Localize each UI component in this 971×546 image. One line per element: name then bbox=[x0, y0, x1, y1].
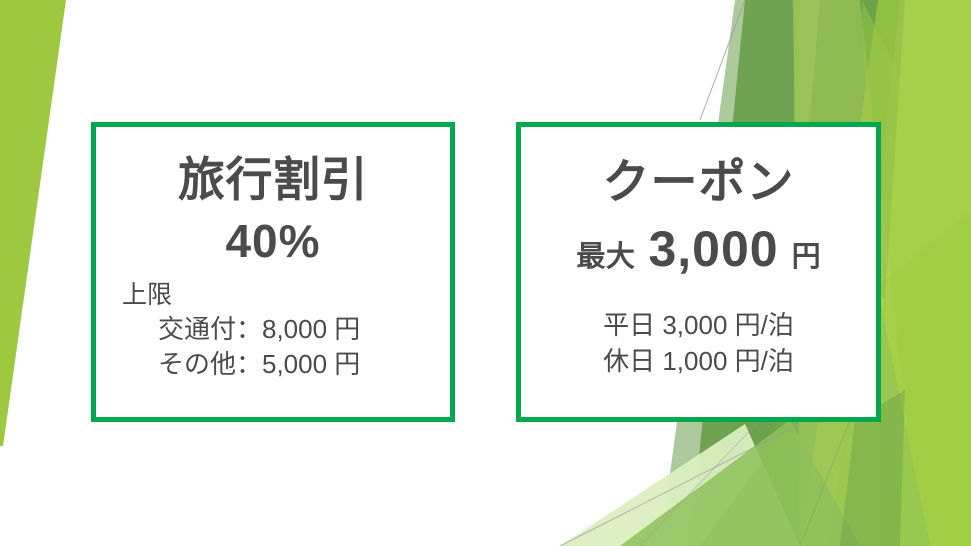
hairline-3 bbox=[640, 420, 760, 546]
facet-pale-tint-2 bbox=[620, 420, 860, 546]
hairline-2 bbox=[560, 424, 800, 546]
travel-discount-limit-block: 上限 交通付：8,000 円 その他：5,000 円 bbox=[96, 280, 450, 381]
coupon-title: クーポン bbox=[603, 157, 795, 206]
travel-discount-title: 旅行割引 bbox=[178, 155, 368, 204]
coupon-amount-unit: 円 bbox=[792, 233, 821, 275]
travel-discount-percent: 40% bbox=[225, 218, 320, 264]
coupon-card: クーポン 最大 3,000 円 平日 3,000 円/泊 休日 1,000 円/… bbox=[516, 122, 881, 422]
hairline-1 bbox=[700, 0, 745, 120]
limit-label: 上限 bbox=[122, 280, 450, 311]
slide: 旅行割引 40% 上限 交通付：8,000 円 その他：5,000 円 クーポン… bbox=[0, 0, 971, 546]
coupon-amount-value: 3,000 bbox=[648, 220, 778, 278]
coupon-rate-weekday: 平日 3,000 円/泊 bbox=[603, 308, 794, 344]
coupon-amount-row: 最大 3,000 円 bbox=[576, 220, 820, 278]
coupon-rate-block: 平日 3,000 円/泊 休日 1,000 円/泊 bbox=[603, 308, 794, 380]
coupon-amount-prefix: 最大 bbox=[576, 233, 635, 275]
left-green-wedge bbox=[0, 0, 66, 446]
limit-row-other: その他：5,000 円 bbox=[122, 347, 450, 382]
limit-row-transport: 交通付：8,000 円 bbox=[122, 312, 450, 347]
travel-discount-card: 旅行割引 40% 上限 交通付：8,000 円 その他：5,000 円 bbox=[91, 122, 455, 422]
hairline-4 bbox=[800, 420, 850, 546]
coupon-rate-holiday: 休日 1,000 円/泊 bbox=[603, 344, 794, 380]
facet-pale-tint bbox=[560, 424, 800, 546]
